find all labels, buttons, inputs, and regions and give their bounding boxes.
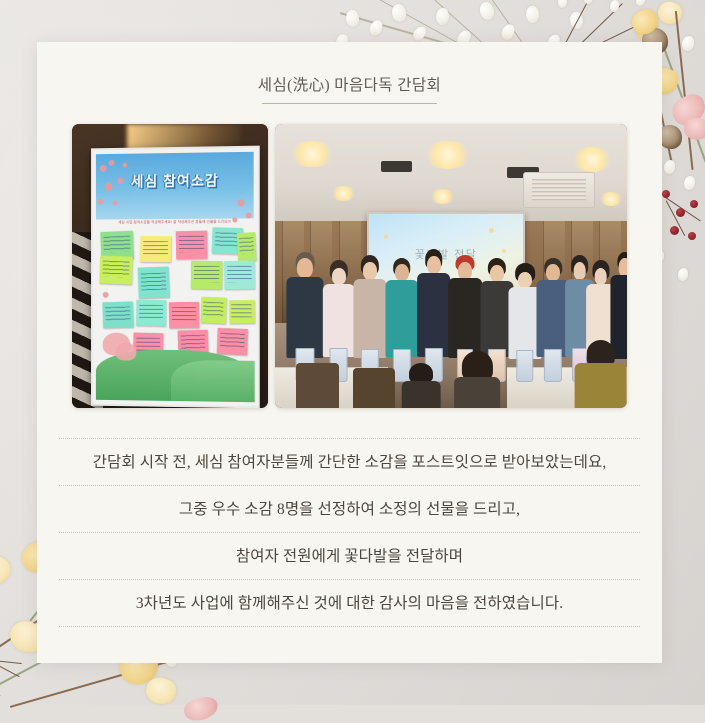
content-card: 세심(洗心) 마음다독 간담회 [37,42,662,663]
sticky-note [190,261,222,290]
text-line: 간담회 시작 전, 세심 참여자분들께 간단한 소감을 포스트잇으로 받아보았는… [59,438,640,486]
poster-board: 세심 참여소감 세심 사업 참여소감을 작성해주세요! 잘 작성해주신 분들께 … [91,145,260,407]
ceiling-vent [381,161,413,172]
description-text: 간담회 시작 전, 세심 참여자분들께 간단한 소감을 포스트잇으로 받아보았는… [59,438,640,627]
seated-person [402,363,441,408]
sticky-note [102,301,134,327]
sticky-note [169,302,199,328]
poster-heading: 세심 참여소감 [93,169,258,191]
photo-gallery: 세심 참여소감 세심 사업 참여소감을 작성해주세요! 잘 작성해주신 분들께 … [37,104,662,408]
sticky-note [137,266,169,298]
group-photo[interactable]: 꽃다발 전달 [275,124,627,408]
seated-person [455,351,501,408]
sticky-note [236,232,256,261]
text-line: 3차년도 사업에 함께해주신 것에 대한 감사의 마음을 전하였습니다. [59,580,640,627]
text-line: 참여자 전원에게 꽃다발을 전달하며 [59,533,640,580]
sticky-note [136,299,166,325]
title-section: 세심(洗心) 마음다독 간담회 [37,42,662,104]
poster-photo[interactable]: 세심 참여소감 세심 사업 참여소감을 작성해주세요! 잘 작성해주신 분들께 … [72,124,268,408]
poster-grass-hill [171,360,254,402]
sticky-note [223,261,254,290]
sticky-note [200,297,226,324]
page-title: 세심(洗心) 마음다독 간담회 [258,73,441,103]
sticky-note [175,230,207,259]
air-conditioner [523,172,595,208]
sticky-note [217,327,248,354]
sticky-note [229,300,255,324]
person [353,255,388,383]
seated-chair [353,368,395,408]
seated-person [574,340,627,408]
poster-subheading: 세심 사업 참여소감을 작성해주세요! 잘 작성해주신 분들께 선물을 드려요!… [102,218,247,224]
text-line: 그중 우수 소감 8명을 선정하여 소정의 선물을 드리고, [59,486,640,533]
sticky-note [99,256,132,285]
seated-chair [296,363,338,408]
sticky-note [139,236,171,262]
banquet-room: 꽃다발 전달 [275,124,627,408]
